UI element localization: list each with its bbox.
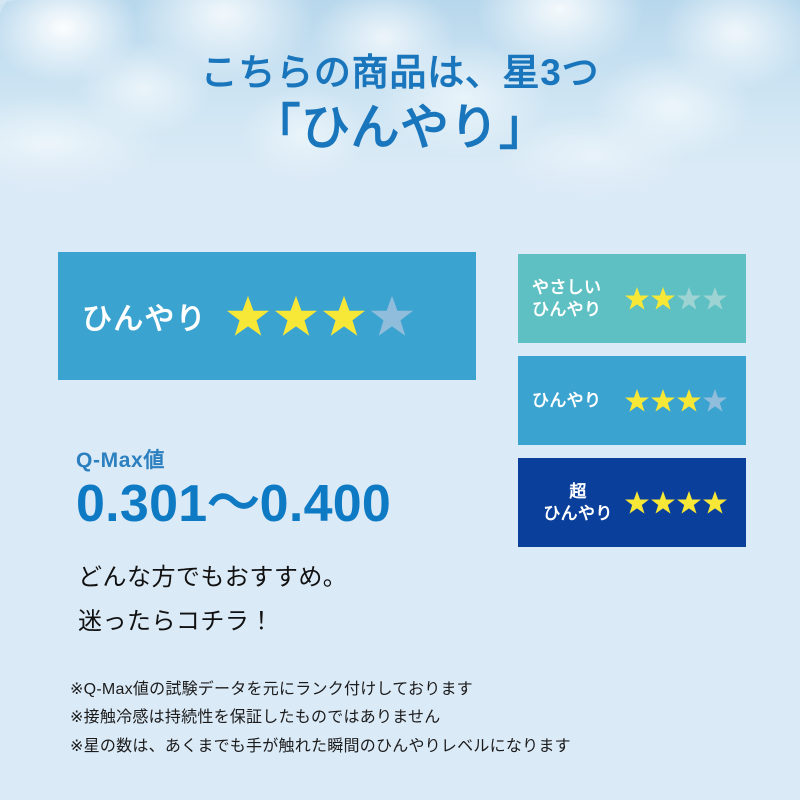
featured-rating-card: ひんやり [58,252,476,380]
star-empty-icon [676,286,702,311]
legend-star-rating [624,490,728,515]
footnote-item: ※接触冷感は持続性を保証したものではありません [70,704,571,732]
hero-headline-primary: こちらの商品は、星3つ [0,0,800,93]
legend-card-cool: ひんやり [518,356,746,445]
legend-card-label: やさしい ひんやり [532,277,624,320]
legend-star-rating [624,388,728,413]
star-empty-icon [369,294,415,338]
featured-rating-label: ひんやり [82,294,207,338]
hero-text-group: こちらの商品は、星3つ 「ひんやり」 [0,0,800,156]
legend-card-supercool: 超 ひんやり [518,458,746,547]
star-filled-icon [225,294,271,338]
star-empty-icon [702,286,728,311]
legend-star-rating [624,286,728,311]
legend-card-label: 超 ひんやり [532,481,624,524]
footnotes-group: ※Q-Max値の試験データを元にランク付けしております ※接触冷感は持続性を保証… [70,676,571,761]
footnote-item: ※星の数は、あくまでも手が触れた瞬間のひんやりレベルになります [70,733,571,761]
infographic-page: こちらの商品は、星3つ 「ひんやり」 ひんやり Q-Max値 0.301〜0.4… [0,0,800,800]
qmax-value: 0.301〜0.400 [76,473,391,533]
promo-line-2: 迷ったらコチラ！ [78,600,347,644]
star-filled-icon [676,490,702,515]
promo-text-group: どんな方でもおすすめ。 迷ったらコチラ！ [78,556,347,643]
star-filled-icon [650,286,676,311]
legend-card-label: ひんやり [532,390,624,411]
legend-card-gentle: やさしい ひんやり [518,254,746,343]
star-filled-icon [676,388,702,413]
star-filled-icon [650,388,676,413]
hero-headline-secondary: 「ひんやり」 [0,93,800,156]
qmax-label: Q-Max値 [76,448,391,473]
star-filled-icon [624,388,650,413]
featured-star-rating [225,294,415,338]
hero-banner: こちらの商品は、星3つ 「ひんやり」 [0,0,800,232]
star-empty-icon [702,388,728,413]
star-filled-icon [273,294,319,338]
star-filled-icon [321,294,367,338]
star-filled-icon [624,490,650,515]
qmax-block: Q-Max値 0.301〜0.400 [76,448,391,533]
rating-scale-legend: やさしい ひんやり ひんやり 超 ひんやり [518,254,746,547]
footnote-item: ※Q-Max値の試験データを元にランク付けしております [70,676,571,704]
star-filled-icon [650,490,676,515]
hero-fade-overlay [0,146,800,232]
star-filled-icon [702,490,728,515]
promo-line-1: どんな方でもおすすめ。 [78,556,347,600]
star-filled-icon [624,286,650,311]
